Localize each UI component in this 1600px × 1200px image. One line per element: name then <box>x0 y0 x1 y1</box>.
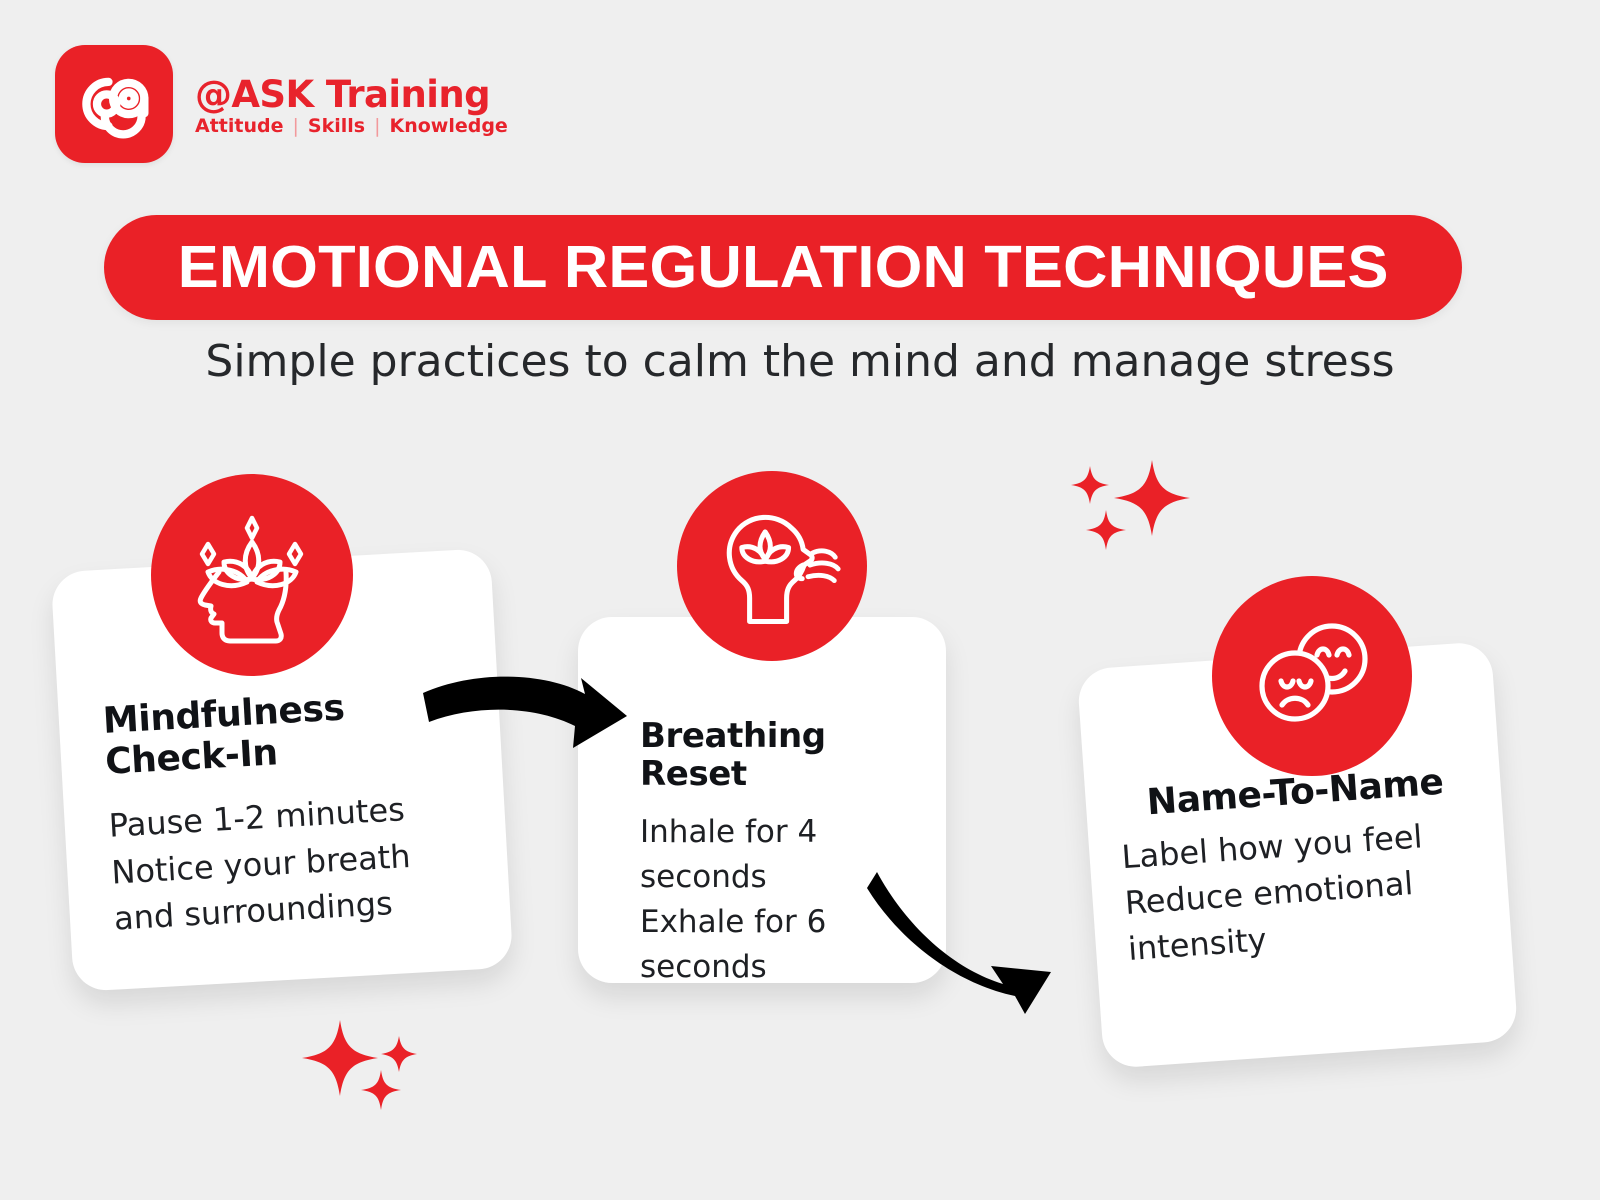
title-banner: EMOTIONAL REGULATION TECHNIQUES <box>104 215 1462 320</box>
card-text-block: Name-To-Name Label how you feel Reduce e… <box>1109 760 1492 973</box>
card-description-text: Pause 1-2 minutes Notice your breath and… <box>108 783 481 942</box>
card-description: Label how you feel Reduce emotional inte… <box>1112 809 1492 974</box>
brand-logo: @ASK Training Attitude | Skills | Knowle… <box>55 45 508 163</box>
card-description: Pause 1-2 minutes Notice your breath and… <box>108 783 481 942</box>
brand-tagline: Attitude | Skills | Knowledge <box>195 117 508 136</box>
page-subtitle: Simple practices to calm the mind and ma… <box>0 340 1600 384</box>
tagline-knowledge: Knowledge <box>389 117 507 136</box>
ask-training-logo-icon <box>55 45 173 163</box>
infographic-canvas: @ASK Training Attitude | Skills | Knowle… <box>0 0 1600 1200</box>
tagline-separator-1: | <box>292 117 298 136</box>
mindfulness-lotus-head-icon <box>151 474 353 676</box>
tagline-separator-2: | <box>374 117 380 136</box>
brand-logo-text: @ASK Training Attitude | Skills | Knowle… <box>195 72 508 136</box>
tagline-attitude: Attitude <box>195 117 283 136</box>
tagline-skills: Skills <box>308 117 365 136</box>
arrow-card1-to-card2 <box>415 660 635 775</box>
card-title: Breathing Reset <box>640 717 922 794</box>
sparkle-cluster-top-right <box>1058 448 1228 578</box>
card-description-text: Label how you feel Reduce emotional inte… <box>1120 809 1492 973</box>
page-title: EMOTIONAL REGULATION TECHNIQUES <box>178 238 1389 297</box>
breathing-head-exhale-icon <box>677 471 867 661</box>
arrow-card2-to-card3 <box>865 862 1065 1022</box>
sparkle-cluster-bottom-left <box>296 1012 441 1122</box>
emotion-faces-icon <box>1212 576 1412 776</box>
brand-title: @ASK Training <box>195 76 508 113</box>
